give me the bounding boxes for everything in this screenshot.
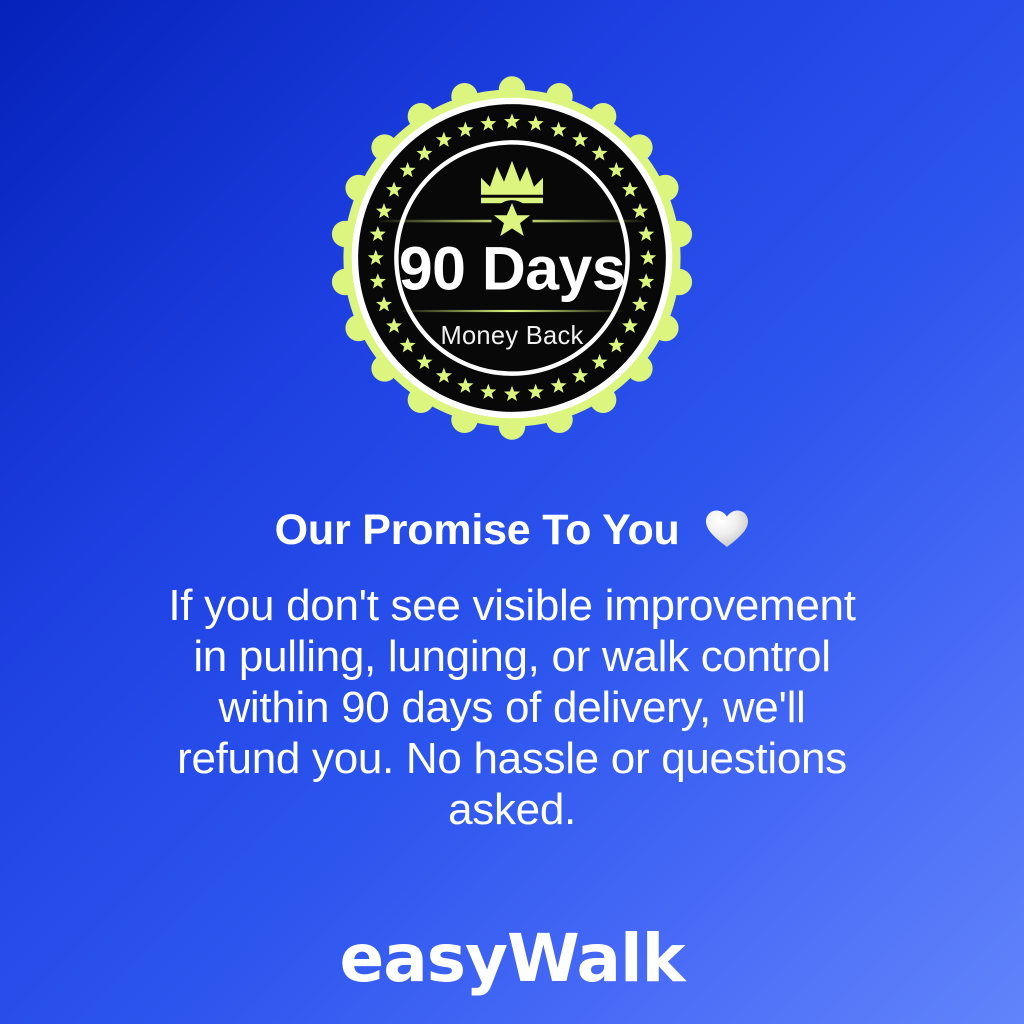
- white-heart-emoji: [705, 509, 749, 549]
- promise-body-line: If you don't see visible improvement: [127, 580, 897, 631]
- badge-subline: Money Back: [440, 322, 583, 350]
- brand-logo-graphic: easyWalk: [292, 915, 732, 1005]
- money-back-guarantee-seal: 90 Days Money Back: [316, 62, 708, 454]
- promise-body-line: within 90 days of delivery, we'll: [127, 682, 897, 733]
- page-title-label: Our Promise To You: [275, 506, 680, 554]
- brand-logo-text: easyWalk: [339, 920, 687, 997]
- promise-body-line: in pulling, lunging, or walk control: [127, 631, 897, 682]
- promise-body-line: refund you. No hassle or questions: [127, 733, 897, 784]
- promise-body-line: asked.: [127, 784, 897, 835]
- badge-graphic: 90 Days Money Back: [316, 62, 708, 454]
- promise-card: 90 Days Money Back Our Promise To You: [0, 0, 1024, 1024]
- badge-divider-bottom: [402, 310, 622, 312]
- promise-body-text: If you don't see visible improvement in …: [127, 580, 897, 835]
- page-title: Our Promise To You: [0, 505, 1024, 554]
- badge-headline: 90 Days: [399, 234, 625, 302]
- brand-logo-easywalk: easyWalk: [292, 915, 732, 1005]
